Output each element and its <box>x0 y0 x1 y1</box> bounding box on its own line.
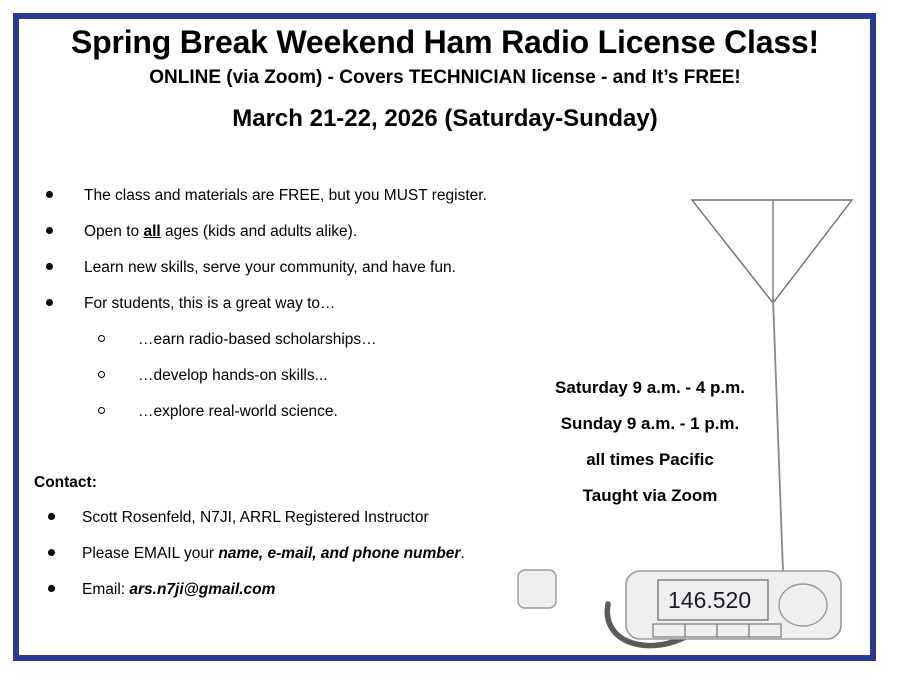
page-subtitle: ONLINE (via Zoom) - Covers TECHNICIAN li… <box>26 64 864 92</box>
list-item: …develop hands-on skills... <box>34 366 594 402</box>
student-benefit-3: …explore real-world science. <box>138 403 338 420</box>
bullet-dot-icon <box>48 549 55 556</box>
list-item: Please EMAIL your name, e-mail, and phon… <box>34 544 574 580</box>
hollow-bullet-icon <box>98 407 105 414</box>
list-item: Email: ars.n7ji@gmail.com <box>34 580 574 616</box>
instructor-name: Scott Rosenfeld, N7JI, ARRL Registered I… <box>82 509 429 526</box>
hollow-bullet-icon <box>98 371 105 378</box>
list-item: For students, this is a great way to… <box>34 294 594 330</box>
schedule-timezone: all times Pacific <box>532 442 768 478</box>
schedule-sunday: Sunday 9 a.m. - 1 p.m. <box>532 406 768 442</box>
list-item: Learn new skills, serve your community, … <box>34 258 594 294</box>
schedule-block: Saturday 9 a.m. - 4 p.m. Sunday 9 a.m. -… <box>532 370 768 514</box>
list-item: Scott Rosenfeld, N7JI, ARRL Registered I… <box>34 508 574 544</box>
schedule-saturday: Saturday 9 a.m. - 4 p.m. <box>532 370 768 406</box>
email-request-emphasis: name, e-mail, and phone number <box>218 545 460 562</box>
student-benefit-1: …earn radio-based scholarships… <box>138 331 377 348</box>
list-item: …explore real-world science. <box>34 402 594 438</box>
benefit-text-3: Learn new skills, serve your community, … <box>84 259 456 276</box>
bullet-dot-icon <box>46 191 53 198</box>
benefit-text-2-emphasis: all <box>143 223 160 240</box>
contact-section: Contact: Scott Rosenfeld, N7JI, ARRL Reg… <box>34 473 574 616</box>
student-benefit-2: …develop hands-on skills... <box>138 367 328 384</box>
email-label: Email: <box>82 581 129 598</box>
bullet-dot-icon <box>48 513 55 520</box>
bullet-dot-icon <box>46 263 53 270</box>
poster-root: Spring Break Weekend Ham Radio License C… <box>0 0 902 686</box>
list-item: The class and materials are FREE, but yo… <box>34 186 594 222</box>
page-title: Spring Break Weekend Ham Radio License C… <box>26 22 864 62</box>
benefit-text-4: For students, this is a great way to… <box>84 295 336 312</box>
benefit-text-2-prefix: Open to <box>84 223 143 240</box>
benefits-list: The class and materials are FREE, but yo… <box>34 186 594 438</box>
benefit-text-2-suffix: ages (kids and adults alike). <box>161 223 357 240</box>
bullet-dot-icon <box>46 299 53 306</box>
benefit-text-1: The class and materials are FREE, but yo… <box>84 187 487 204</box>
poster-header: Spring Break Weekend Ham Radio License C… <box>26 22 864 134</box>
hollow-bullet-icon <box>98 335 105 342</box>
schedule-platform: Taught via Zoom <box>532 478 768 514</box>
contact-heading: Contact: <box>34 473 574 493</box>
bullet-dot-icon <box>46 227 53 234</box>
email-request-prefix: Please EMAIL your <box>82 545 218 562</box>
list-item: …earn radio-based scholarships… <box>34 330 594 366</box>
bullet-dot-icon <box>48 585 55 592</box>
email-request-suffix: . <box>460 545 464 562</box>
event-date-line: March 21-22, 2026 (Saturday-Sunday) <box>26 104 864 134</box>
list-item: Open to all ages (kids and adults alike)… <box>34 222 594 258</box>
email-address[interactable]: ars.n7ji@gmail.com <box>129 581 275 598</box>
